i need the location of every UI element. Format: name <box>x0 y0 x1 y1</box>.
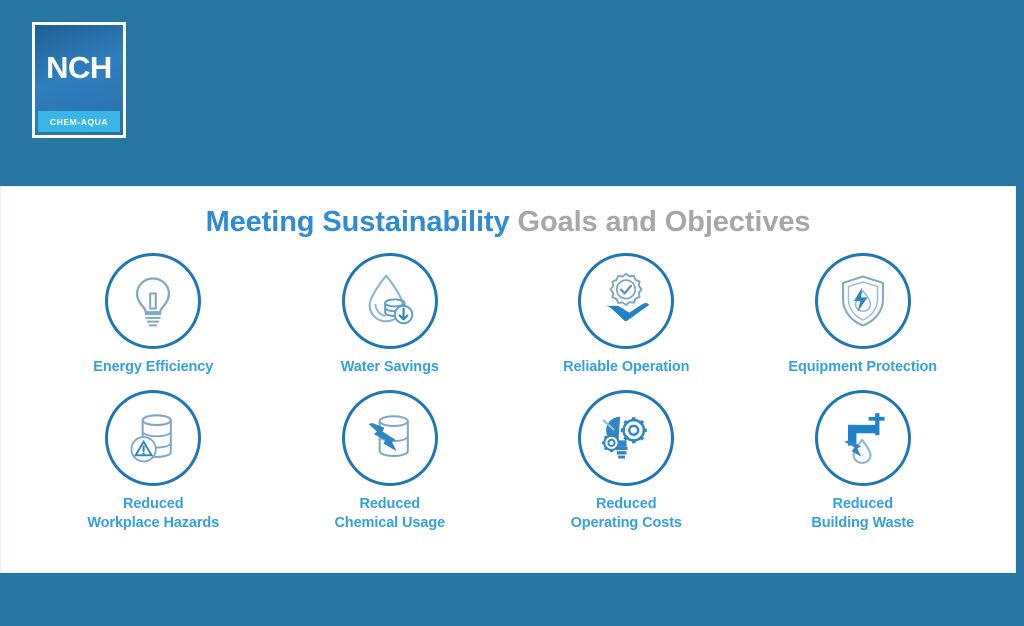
benefit-caption-line1: Reduced <box>811 495 914 515</box>
water-drop-coins-icon <box>359 270 421 332</box>
benefit-caption-line2: Building Waste <box>811 514 914 534</box>
lightbulb-icon <box>123 271 183 331</box>
chemical-drum-warning-icon <box>123 408 183 468</box>
benefit-caption: Energy Efficiency <box>93 358 213 378</box>
benefit-icon-circle <box>578 253 674 349</box>
page-title-highlight: Meeting Sustainability <box>206 206 510 238</box>
benefit-item-energy-efficiency: Energy Efficiency <box>35 253 272 378</box>
benefit-item-operating-costs: Reduced Operating Costs <box>508 390 745 534</box>
shield-bolt-drop-icon <box>834 272 892 330</box>
gears-tools-icon <box>595 407 657 469</box>
logo-wordmark: NCH <box>38 28 120 111</box>
benefit-item-chemical-usage: Reduced Chemical Usage <box>272 390 509 534</box>
benefit-caption-line1: Water Savings <box>341 358 439 378</box>
faucet-drop-icon <box>833 408 893 468</box>
benefit-caption: Water Savings <box>341 358 439 378</box>
benefit-item-equipment-protection: Equipment Protection <box>745 253 982 378</box>
benefit-caption-line1: Energy Efficiency <box>93 358 213 378</box>
benefit-item-reliable-operation: Reliable Operation <box>508 253 745 378</box>
benefit-caption-line1: Reduced <box>87 495 219 515</box>
benefit-caption-line2: Operating Costs <box>571 514 682 534</box>
benefit-icon-circle <box>105 390 201 486</box>
benefit-caption-line1: Reduced <box>571 495 682 515</box>
benefit-caption: Reduced Workplace Hazards <box>87 495 219 534</box>
hand-checkmark-icon <box>595 270 657 332</box>
benefits-grid: Energy Efficiency Water Savings <box>1 253 1015 534</box>
benefit-caption: Reduced Operating Costs <box>571 495 682 534</box>
benefit-icon-circle <box>342 390 438 486</box>
logo-subbrand: CHEM-AQUA <box>38 111 120 132</box>
benefit-caption-line1: Reduced <box>334 495 445 515</box>
benefit-caption-line2: Chemical Usage <box>334 514 445 534</box>
content-panel: Meeting Sustainability Goals and Objecti… <box>0 186 1016 573</box>
drum-down-arrow-icon <box>360 408 420 468</box>
benefit-caption-line1: Equipment Protection <box>788 358 937 378</box>
benefit-item-building-waste: Reduced Building Waste <box>745 390 982 534</box>
benefit-icon-circle <box>578 390 674 486</box>
benefit-icon-circle <box>815 390 911 486</box>
benefit-caption-line2: Workplace Hazards <box>87 514 219 534</box>
benefit-caption: Equipment Protection <box>788 358 937 378</box>
benefit-icon-circle <box>815 253 911 349</box>
nch-chem-aqua-logo: NCH CHEM-AQUA <box>32 22 126 138</box>
benefit-caption: Reliable Operation <box>563 358 689 378</box>
benefit-icon-circle <box>105 253 201 349</box>
benefit-item-water-savings: Water Savings <box>272 253 509 378</box>
page-title-rest: Goals and Objectives <box>510 206 811 238</box>
page-title: Meeting Sustainability Goals and Objecti… <box>1 206 1015 239</box>
benefit-caption: Reduced Chemical Usage <box>334 495 445 534</box>
benefit-icon-circle <box>342 253 438 349</box>
benefit-caption: Reduced Building Waste <box>811 495 914 534</box>
benefit-item-workplace-hazards: Reduced Workplace Hazards <box>35 390 272 534</box>
benefit-caption-line1: Reliable Operation <box>563 358 689 378</box>
